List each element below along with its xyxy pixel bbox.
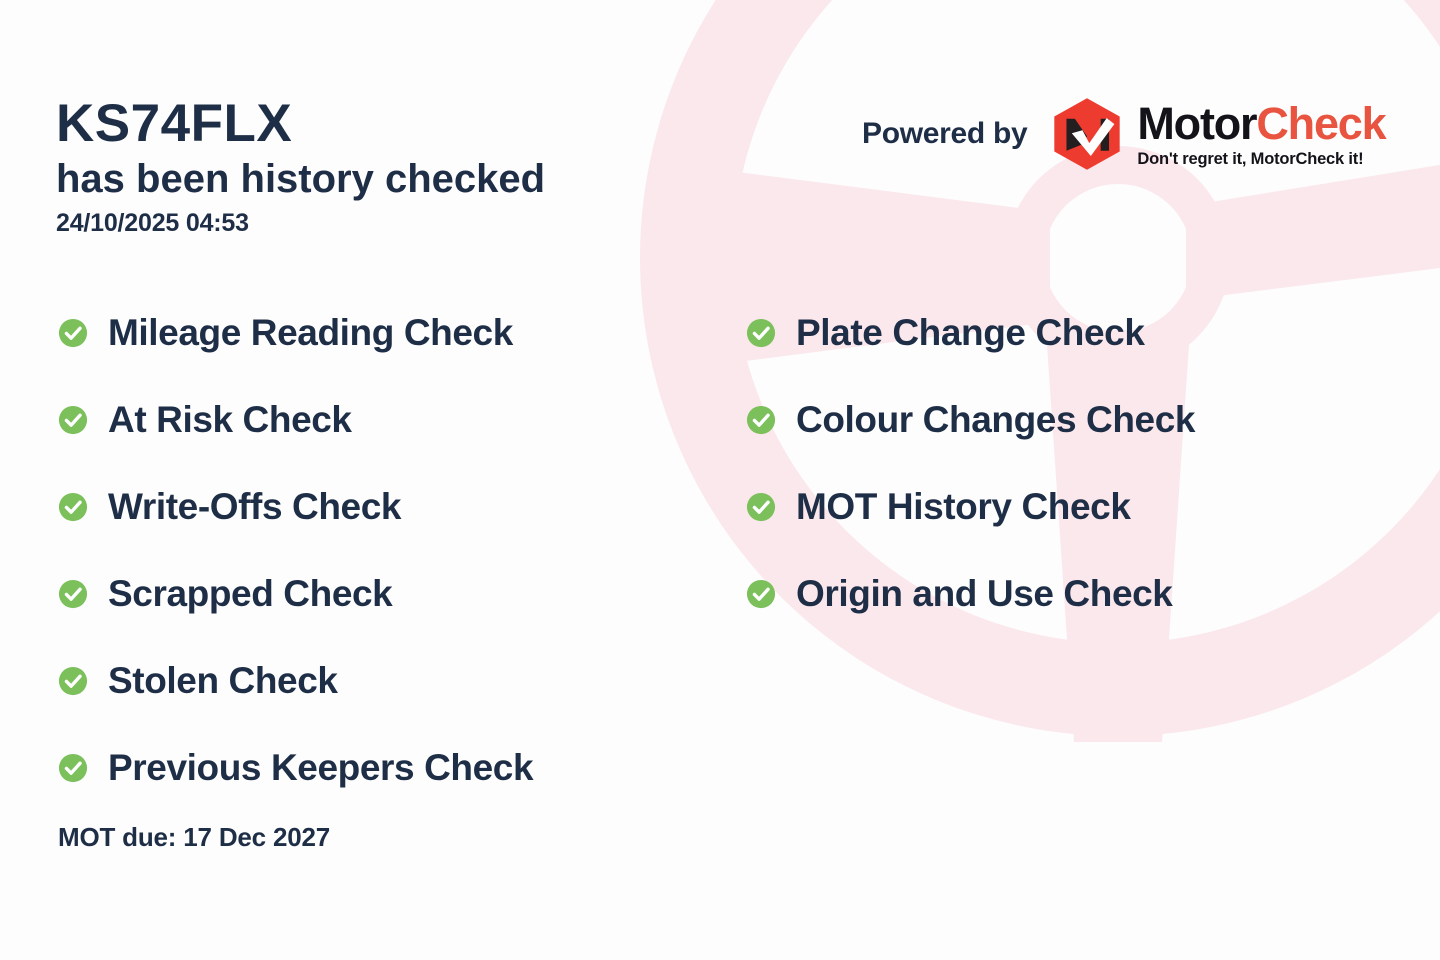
check-circle-icon: [58, 579, 88, 609]
list-item: Stolen Check: [58, 637, 533, 724]
motorcheck-wordmark: MotorCheck Don't regret it, MotorCheck i…: [1137, 101, 1385, 168]
list-item: At Risk Check: [58, 376, 533, 463]
check-circle-icon: [58, 666, 88, 696]
list-item: Plate Change Check: [746, 289, 1195, 376]
check-label: Write-Offs Check: [108, 488, 401, 525]
brand-name: MotorCheck: [1137, 101, 1385, 146]
check-label: Plate Change Check: [796, 314, 1145, 351]
brand-tagline: Don't regret it, MotorCheck it!: [1137, 151, 1385, 168]
checklist-left-column: Mileage Reading Check At Risk Check Writ…: [58, 289, 533, 811]
list-item: MOT History Check: [746, 463, 1195, 550]
check-circle-icon: [746, 579, 776, 609]
check-circle-icon: [746, 492, 776, 522]
motorcheck-hexagon-icon: [1049, 96, 1125, 172]
brand-name-motor: Motor: [1137, 98, 1256, 149]
list-item: Colour Changes Check: [746, 376, 1195, 463]
brand-name-check: Check: [1256, 98, 1385, 149]
check-label: Colour Changes Check: [796, 401, 1195, 438]
page-subtitle: has been history checked: [56, 156, 545, 202]
header-block: KS74FLX has been history checked 24/10/2…: [56, 96, 545, 238]
mot-due-note: MOT due: 17 Dec 2027: [58, 822, 330, 853]
check-label: Scrapped Check: [108, 575, 392, 612]
check-label: Mileage Reading Check: [108, 314, 513, 351]
check-label: Origin and Use Check: [796, 575, 1173, 612]
list-item: Write-Offs Check: [58, 463, 533, 550]
list-item: Previous Keepers Check: [58, 724, 533, 811]
check-circle-icon: [58, 318, 88, 348]
motorcheck-logo: MotorCheck Don't regret it, MotorCheck i…: [1049, 96, 1385, 172]
registration-plate: KS74FLX: [56, 96, 545, 152]
checklist-right-column: Plate Change Check Colour Changes Check …: [746, 289, 1195, 637]
check-label: Stolen Check: [108, 662, 338, 699]
check-circle-icon: [746, 405, 776, 435]
check-label: Previous Keepers Check: [108, 749, 533, 786]
check-label: At Risk Check: [108, 401, 352, 438]
check-circle-icon: [58, 405, 88, 435]
history-check-graphic: KS74FLX has been history checked 24/10/2…: [0, 0, 1440, 960]
list-item: Mileage Reading Check: [58, 289, 533, 376]
list-item: Origin and Use Check: [746, 550, 1195, 637]
check-label: MOT History Check: [796, 488, 1131, 525]
check-circle-icon: [58, 753, 88, 783]
list-item: Scrapped Check: [58, 550, 533, 637]
check-circle-icon: [58, 492, 88, 522]
powered-by-lockup: Powered by MotorCheck Don't regret it, M…: [862, 96, 1385, 172]
check-timestamp: 24/10/2025 04:53: [56, 209, 545, 238]
powered-by-label: Powered by: [862, 117, 1027, 151]
check-circle-icon: [746, 318, 776, 348]
